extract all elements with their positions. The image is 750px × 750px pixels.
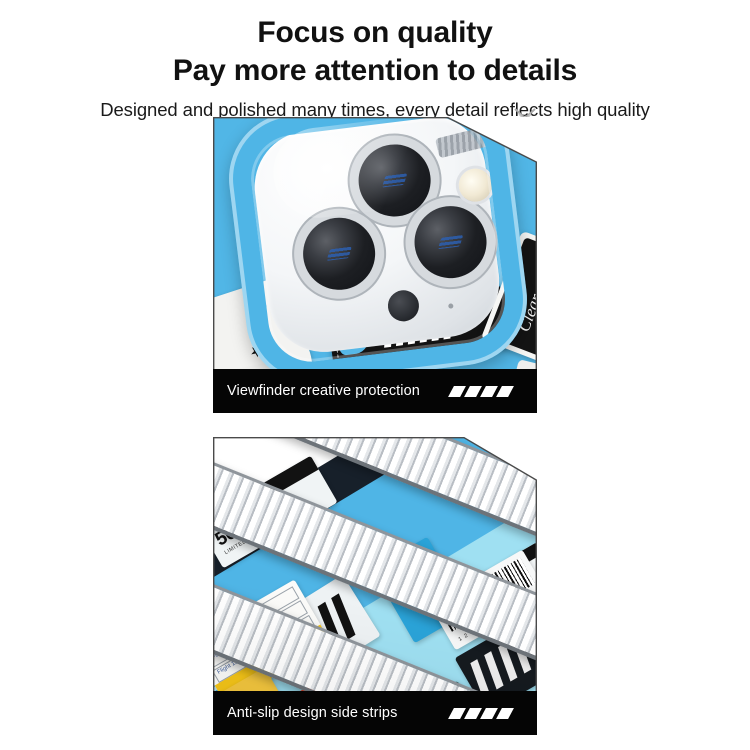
caption-bar-viewfinder: Viewfinder creative protection xyxy=(213,369,537,413)
sticker-year-text: 2016 xyxy=(213,276,217,332)
page-title-line2: Pay more attention to details xyxy=(0,52,750,90)
page-title-line1: Focus on quality xyxy=(0,14,750,52)
panel-viewfinder: 2016 ★ ★ ★ xyxy=(213,117,537,413)
slash-marks-icon xyxy=(451,386,511,397)
slash-marks-icon xyxy=(451,708,511,719)
caption-bar-antislip: Anti-slip design side strips xyxy=(213,691,537,735)
panel-antislip: 50% OFF LIMITED EDITION CLEARANCE 50% ON… xyxy=(213,437,537,735)
blue-camera-bezel xyxy=(221,117,534,391)
caption-text: Anti-slip design side strips xyxy=(227,705,397,721)
caption-text: Viewfinder creative protection xyxy=(227,383,420,399)
page-header: Focus on quality Pay more attention to d… xyxy=(0,0,750,121)
bezel-inner-highlight xyxy=(221,117,534,391)
